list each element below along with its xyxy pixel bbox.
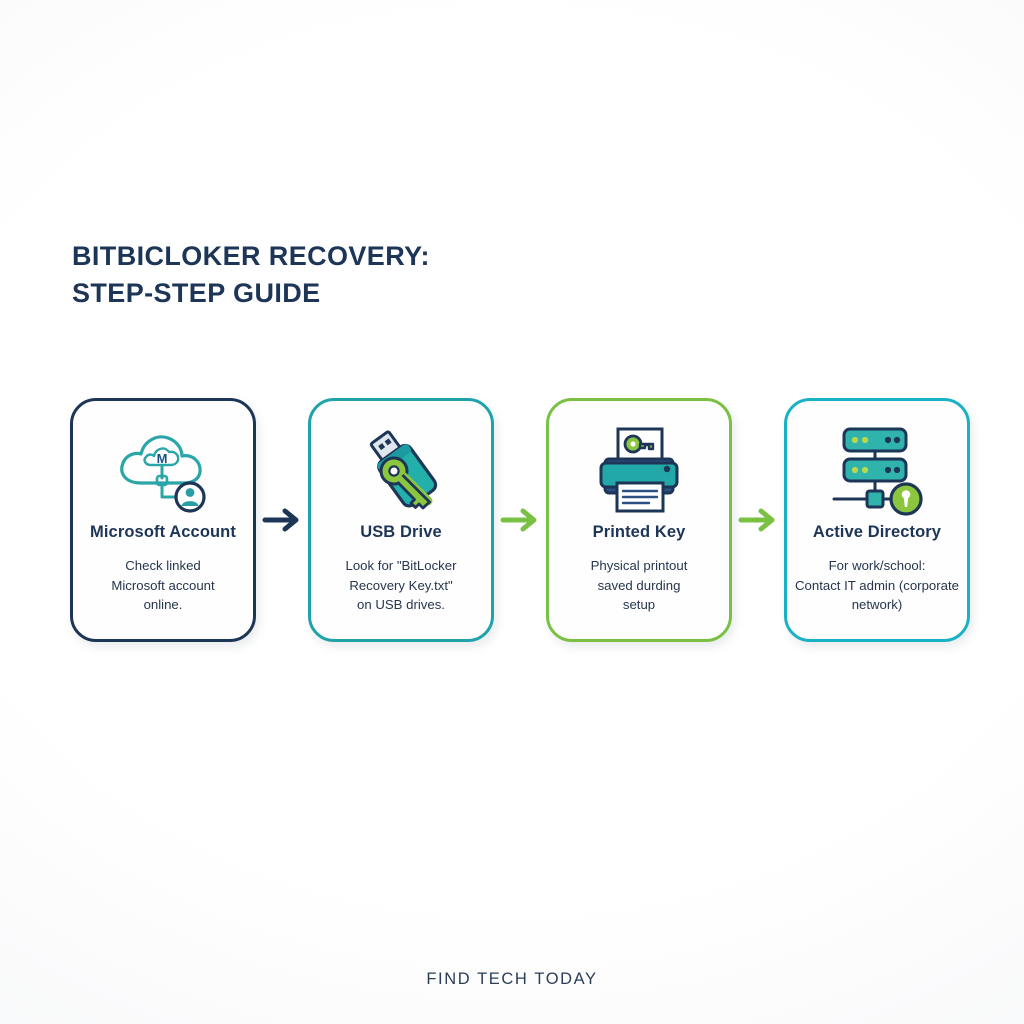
page-title: BITBICLOKER RECOVERY: STEP-STEP GUIDE (72, 238, 592, 312)
server-directory-key-icon (787, 419, 967, 519)
step-card-description: Physical printout saved durding setup (534, 556, 744, 615)
page-title-line-2: STEP-STEP GUIDE (72, 275, 592, 312)
step-card-printed-key[interactable]: Printed Key Physical printout saved durd… (546, 398, 732, 642)
footer-brand: FIND TECH TODAY (0, 970, 1024, 989)
step-card-title: Active Directory (813, 523, 941, 542)
step-card-microsoft-account[interactable]: M Microsoft Account Check linked Microso… (70, 398, 256, 642)
printer-key-icon (549, 419, 729, 519)
step-card-active-directory[interactable]: Active Directory For work/school: Contac… (784, 398, 970, 642)
page-title-line-1: BITBICLOKER RECOVERY: (72, 238, 592, 275)
svg-text:M: M (157, 451, 168, 466)
step-card-title: USB Drive (360, 523, 442, 542)
cloud-microsoft-account-icon: M (73, 419, 253, 519)
step-card-description: Check linked Microsoft account online. (58, 556, 268, 615)
step-card-title: Printed Key (593, 523, 686, 542)
step-card-usb-drive[interactable]: USB Drive Look for "BitLocker Recovery K… (308, 398, 494, 642)
infographic-canvas: BITBICLOKER RECOVERY: STEP-STEP GUIDE M (0, 0, 1024, 1024)
step-card-description: Look for "BitLocker Recovery Key.txt" on… (296, 556, 506, 615)
usb-drive-key-icon (311, 419, 491, 519)
step-card-description: For work/school: Contact IT admin (corpo… (772, 556, 982, 615)
steps-flow: M Microsoft Account Check linked Microso… (70, 398, 970, 646)
step-card-title: Microsoft Account (90, 523, 236, 542)
